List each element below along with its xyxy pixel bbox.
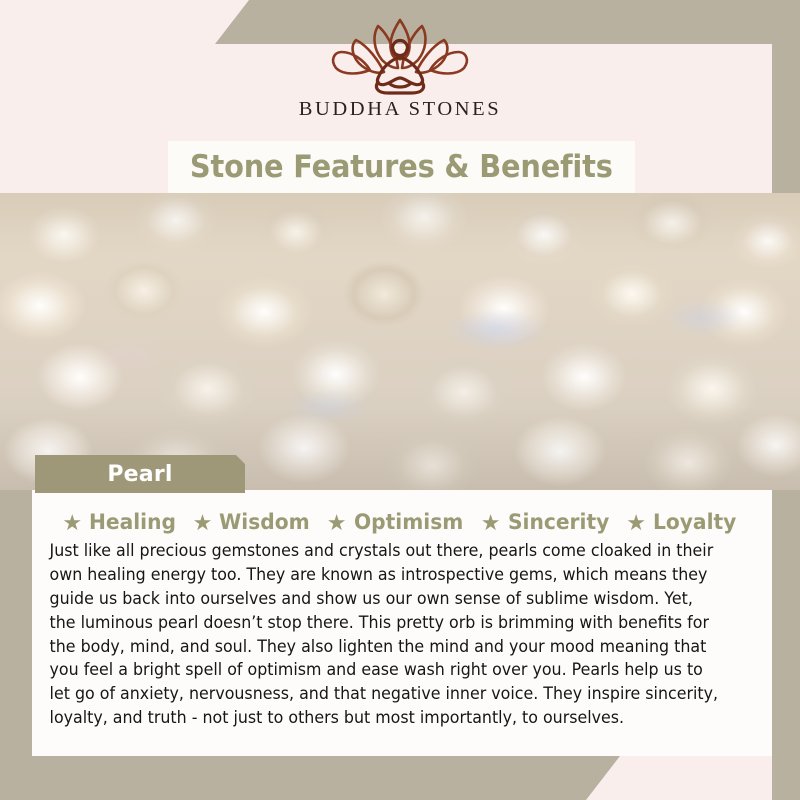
page-title: Stone Features & Benefits <box>190 149 613 185</box>
benefits-list: ★ Healing ★ Wisdom ★ Optimism ★ Sincerit… <box>40 510 764 535</box>
star-icon: ★ <box>193 512 213 534</box>
decorative-frame-bottom <box>0 756 620 800</box>
description-paragraph: Just like all precious gemstones and cry… <box>40 539 731 730</box>
benefit-label: Sincerity <box>508 510 609 535</box>
benefit-item-optimism: ★ Optimism <box>327 510 470 535</box>
decorative-frame-left <box>0 440 32 800</box>
benefit-item-loyalty: ★ Loyalty <box>626 510 741 535</box>
star-icon: ★ <box>626 512 646 534</box>
title-banner: Stone Features & Benefits <box>168 141 635 193</box>
star-icon: ★ <box>327 512 347 534</box>
benefit-item-healing: ★ Healing <box>62 510 181 535</box>
benefit-label: Optimism <box>354 510 463 535</box>
content-panel: ★ Healing ★ Wisdom ★ Optimism ★ Sincerit… <box>32 490 772 756</box>
poster-canvas: BUDDHA STONES Stone Features & Benefits … <box>0 0 800 800</box>
hero-image <box>0 193 800 490</box>
benefit-item-wisdom: ★ Wisdom <box>193 510 316 535</box>
brand-name: BUDDHA STONES <box>299 98 502 121</box>
pearl-gemstones-photo <box>0 193 800 490</box>
star-icon: ★ <box>62 512 82 534</box>
benefit-item-sincerity: ★ Sincerity <box>481 510 616 535</box>
stone-name-badge: Pearl <box>35 455 245 493</box>
lotus-meditation-figure-icon <box>316 16 484 96</box>
stone-name-label: Pearl <box>107 462 172 487</box>
benefit-label: Healing <box>89 510 176 535</box>
benefit-label: Wisdom <box>219 510 310 535</box>
star-icon: ★ <box>481 512 501 534</box>
benefit-label: Loyalty <box>653 510 736 535</box>
brand-header: BUDDHA STONES <box>0 0 800 141</box>
